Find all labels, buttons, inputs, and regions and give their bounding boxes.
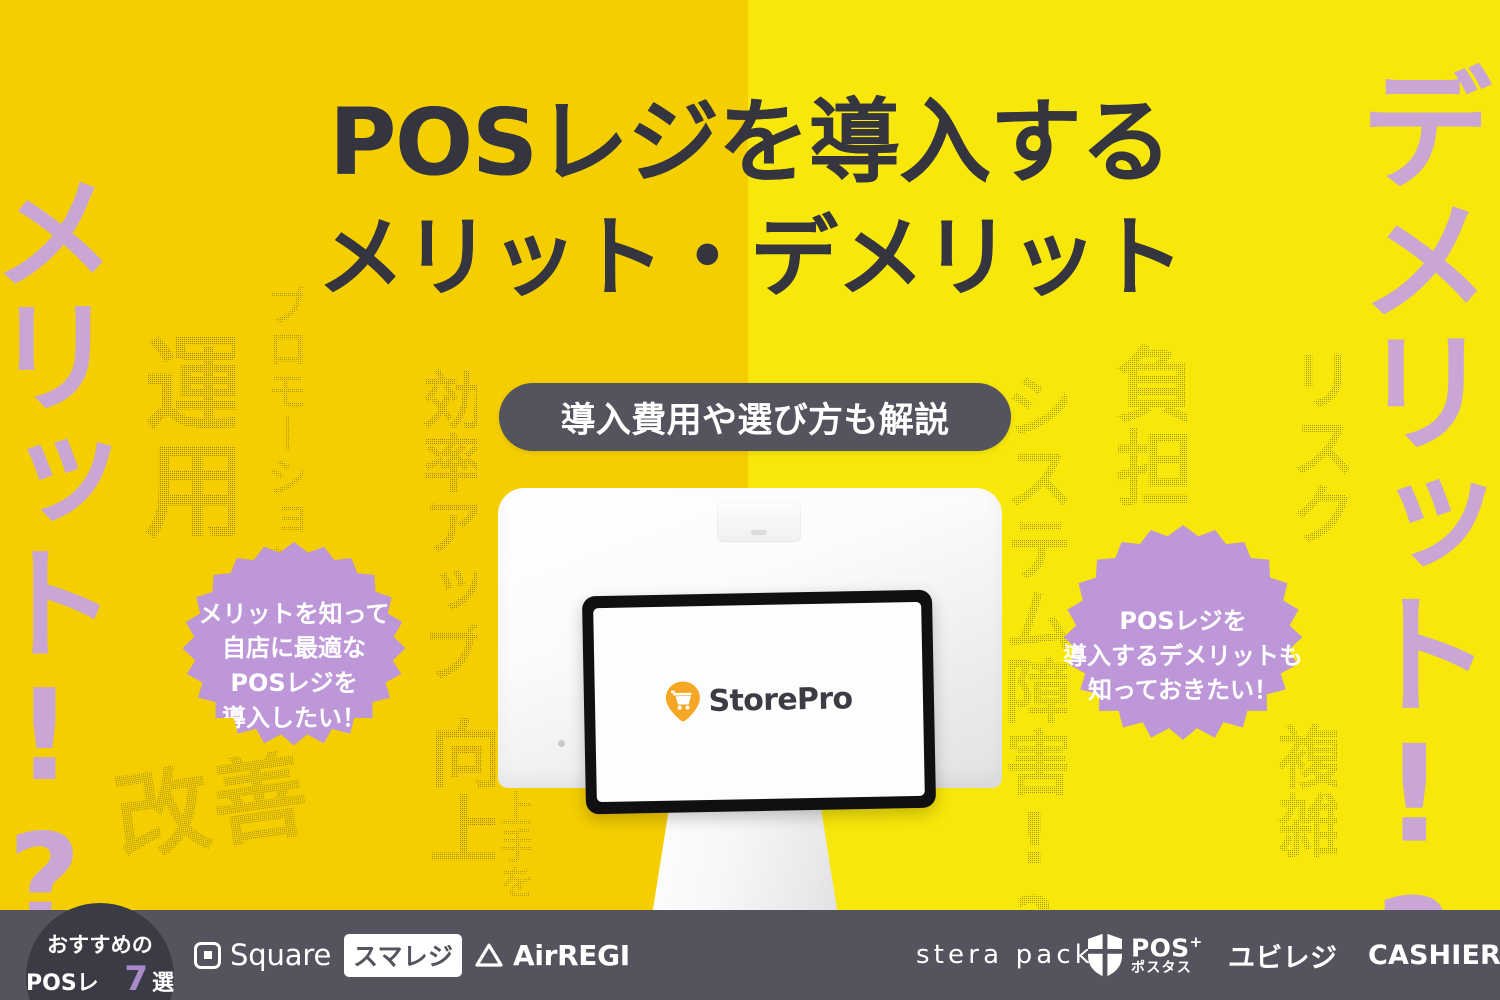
logo-cashier[interactable]: CASHIER — [1368, 940, 1500, 971]
posplus-wordmark: POS+ ポスタス — [1131, 934, 1203, 976]
decor-halftone-futan: 負担 — [1108, 342, 1187, 509]
recommend-badge-suffix: 選 — [152, 965, 174, 997]
burst-right-line-3: 知っておきたい！ — [1088, 673, 1278, 708]
decor-halftone-risk: リスク — [1286, 346, 1349, 548]
logo-posplus[interactable]: POS+ ポスタス — [1088, 933, 1203, 977]
hero-banner: メリット!? デメリット!? 運用 プロモーション 改善 効率アップ 向上 上手… — [0, 0, 1500, 1000]
logo-square[interactable]: Square — [194, 938, 331, 972]
terminal-indicator-dot — [558, 740, 565, 747]
posplus-label: POS+ — [1131, 934, 1203, 962]
logo-smaregi[interactable]: スマレジ — [344, 934, 462, 977]
smaregi-label: スマレジ — [344, 934, 462, 977]
headline-line-2: メリット・デメリット — [0, 202, 1500, 315]
cashier-label: CASHIER — [1368, 940, 1500, 971]
recommend-badge-line-1: おすすめの — [47, 929, 153, 959]
partner-logo-bar: Square スマレジ AirREGI stera pack — [0, 910, 1500, 1000]
decor-halftone-promotion: プロモーション — [264, 284, 304, 584]
terminal-camera-module — [717, 502, 801, 542]
burst-left-line-4: 導入したい！ — [222, 701, 366, 736]
yubiregi-label: ユビレジ — [1228, 936, 1337, 975]
terminal-screen: StorePro — [593, 602, 925, 802]
burst-right-line-2: 導入するデメリットも — [1063, 639, 1303, 674]
square-icon — [194, 942, 221, 969]
sterapack-label: stera pack — [916, 940, 1094, 970]
logo-yubiregi[interactable]: ユビレジ — [1228, 936, 1337, 975]
recommend-badge-prefix: POSレジ — [26, 965, 120, 1000]
recommend-badge-number: 7 — [122, 966, 150, 993]
burst-badge-demerit: POSレジを 導入するデメリットも 知っておきたい！ — [1043, 525, 1323, 787]
page-title: POSレジを導入する メリット・デメリット — [0, 84, 1500, 314]
burst-left-line-2: 自店に最適な — [222, 631, 366, 666]
logo-airregi[interactable]: AirREGI — [474, 939, 630, 972]
storepro-wordmark: StorePro — [708, 681, 852, 719]
subtitle-pill-label: 導入費用や選び方も解説 — [561, 392, 950, 443]
partner-logo-row: Square スマレジ AirREGI stera pack — [0, 910, 1500, 1000]
airregi-label: AirREGI — [513, 939, 630, 972]
recommend-badge-line-2: POSレジ 7 選 — [26, 965, 174, 1000]
posplus-sublabel: ポスタス — [1131, 961, 1203, 976]
headline-line-1: POSレジを導入する — [0, 84, 1500, 202]
burst-right-line-1: POSレジを — [1119, 604, 1246, 639]
storepro-logo: StorePro — [665, 678, 853, 722]
terminal-screen-bezel: StorePro — [582, 590, 936, 815]
shopping-cart-pin-icon — [665, 681, 700, 722]
burst-left-line-1: メリットを知って — [199, 597, 390, 632]
square-label: Square — [230, 938, 331, 972]
airregi-triangle-icon — [474, 942, 504, 969]
decor-halftone-unyou: 運用 — [136, 330, 236, 542]
posplus-shield-icon — [1088, 933, 1122, 977]
burst-left-line-3: POSレジを — [230, 666, 357, 701]
subtitle-pill: 導入費用や選び方も解説 — [499, 383, 1011, 451]
logo-sterapack[interactable]: stera pack — [916, 940, 1094, 970]
